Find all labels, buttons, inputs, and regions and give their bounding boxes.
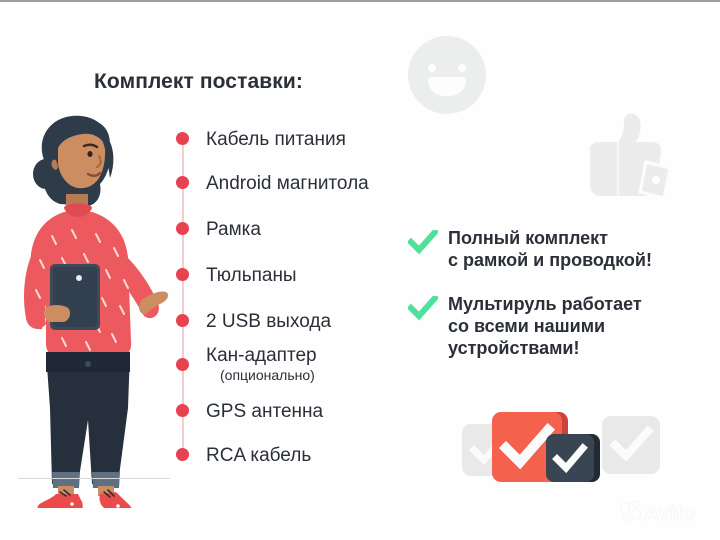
bullet-dot	[176, 448, 189, 461]
avito-watermark: Avito	[618, 498, 710, 526]
feature-text: Полный комплект с рамкой и проводкой!	[448, 228, 708, 272]
bullet-dot	[176, 132, 189, 145]
list-item-label: Кабель питания	[206, 130, 346, 149]
bullet-dot	[176, 404, 189, 417]
bullet-dot	[176, 358, 189, 371]
list-item-label: GPS антенна	[206, 402, 323, 421]
smiley-mouth	[428, 77, 466, 96]
list-item-label: Кан-адаптер	[206, 346, 317, 365]
bullet-dot	[176, 314, 189, 327]
feature-item: Полный комплект с рамкой и проводкой!	[408, 228, 708, 272]
checkbox-gray-right	[602, 416, 660, 474]
smiley-face-icon	[408, 36, 486, 114]
feature-text: Мультируль работает со всеми нашими устр…	[448, 294, 708, 360]
ground-line	[18, 478, 170, 479]
check-icon	[408, 230, 438, 256]
smiley-eye-right	[458, 64, 466, 72]
bullet-dot	[176, 176, 189, 189]
list-item-label: 2 USB выхода	[206, 312, 331, 331]
checkbox-navy	[546, 434, 594, 482]
list-item-label: RCA кабель	[206, 446, 311, 465]
promo-card: Комплект поставки: Кабель питания Androi…	[0, 0, 720, 540]
top-divider	[0, 0, 720, 2]
list-item-sublabel: (опционально)	[220, 368, 315, 382]
list-item-label: Рамка	[206, 220, 261, 239]
woman-illustration	[6, 108, 176, 508]
list-item-label: Android магнитола	[206, 174, 369, 193]
feature-item: Мультируль работает со всеми нашими устр…	[408, 294, 708, 360]
list-item-label: Тюльпаны	[206, 266, 297, 285]
check-icon	[408, 296, 438, 322]
avito-wordmark: Avito	[644, 502, 696, 525]
bullet-dot	[176, 222, 189, 235]
feature-callouts: Полный комплект с рамкой и проводкой! Му…	[408, 228, 708, 376]
smiley-eye-left	[428, 64, 436, 72]
checkbox-cluster-decoration	[462, 412, 652, 486]
page-title: Комплект поставки:	[94, 70, 303, 94]
bullet-dot	[176, 268, 189, 281]
thumbs-up-icon	[578, 108, 682, 212]
